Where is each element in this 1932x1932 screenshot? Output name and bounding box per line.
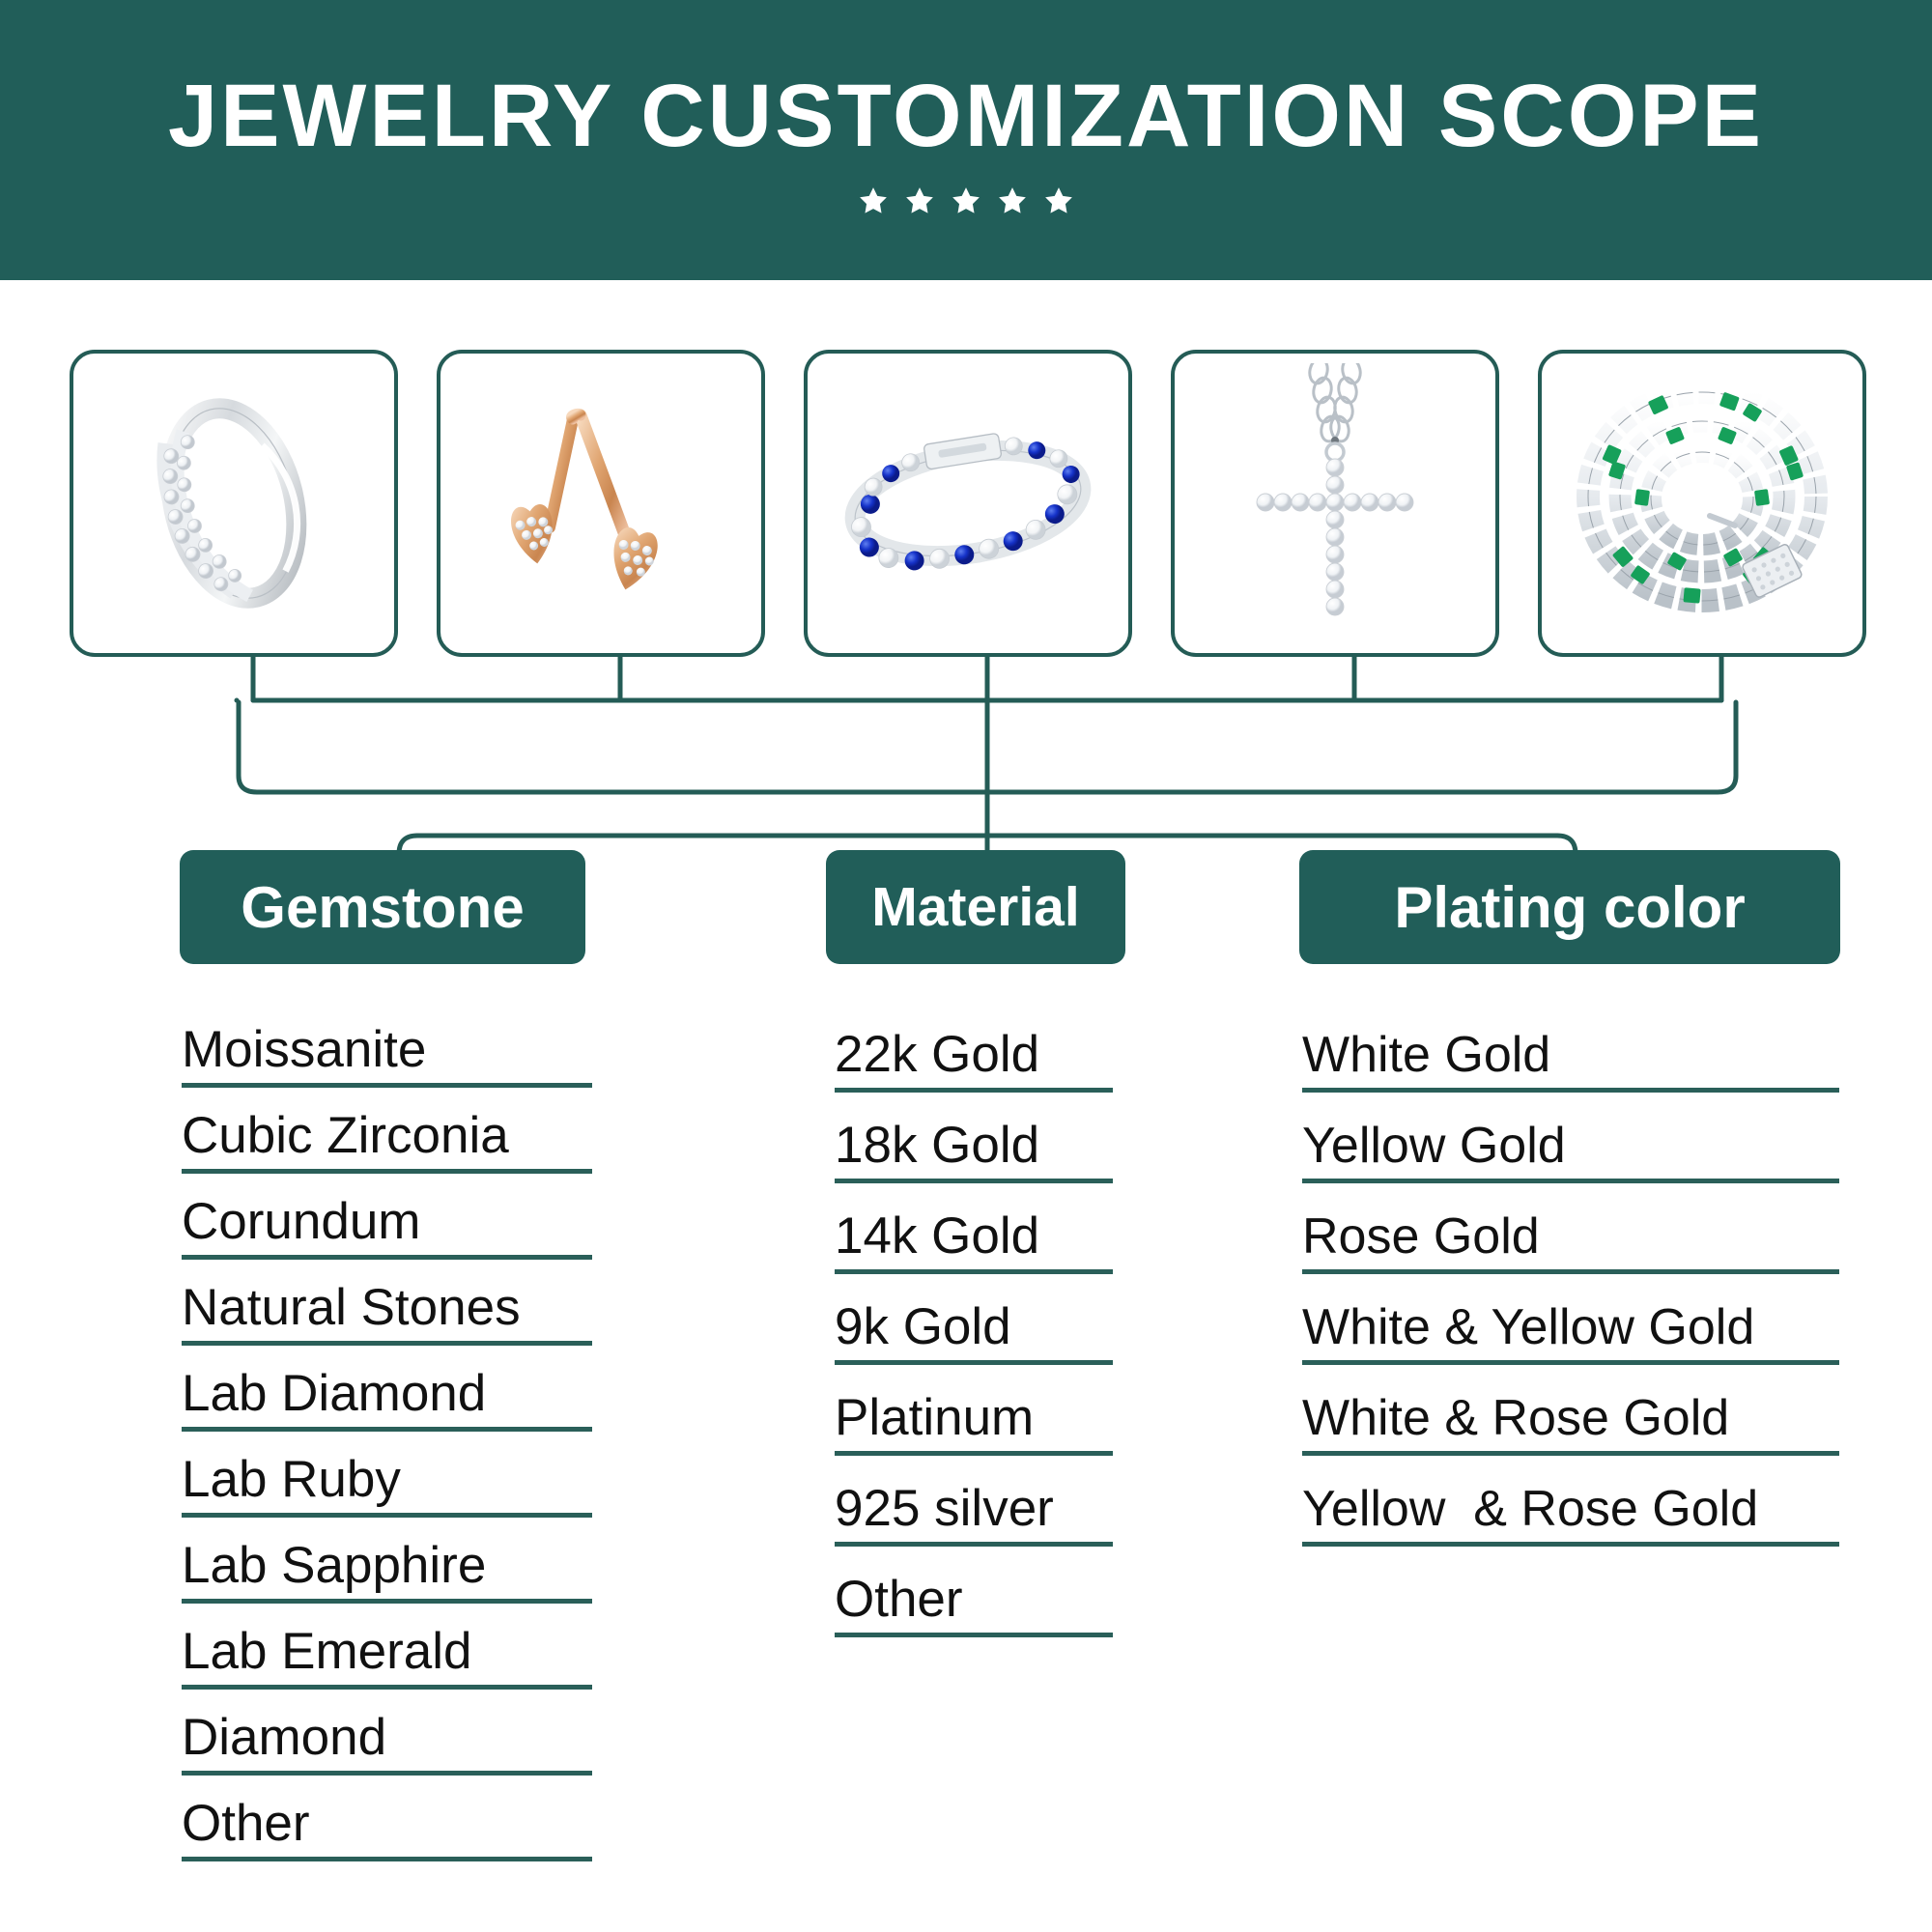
list-item[interactable]: Other <box>182 1776 592 1861</box>
option-label: 18k Gold <box>835 1120 1039 1179</box>
star-icon <box>858 185 889 216</box>
option-label: Natural Stones <box>182 1282 521 1341</box>
list-item[interactable]: Lab Sapphire <box>182 1518 592 1604</box>
category-chip-plating[interactable]: Plating color <box>1299 850 1840 964</box>
list-item[interactable]: Yellow Gold <box>1302 1093 1839 1183</box>
page-title: JEWELRY CUSTOMIZATION SCOPE <box>168 71 1764 160</box>
list-item[interactable]: Rose Gold <box>1302 1183 1839 1274</box>
option-label: Other <box>835 1574 963 1633</box>
list-item[interactable]: Lab Ruby <box>182 1432 592 1518</box>
category-chip-label: Gemstone <box>241 874 524 941</box>
option-label: Lab Diamond <box>182 1368 486 1427</box>
list-item[interactable]: 22k Gold <box>835 1002 1113 1093</box>
option-label: Diamond <box>182 1712 386 1771</box>
option-label: Yellow Gold <box>1302 1121 1566 1179</box>
list-item[interactable]: 18k Gold <box>835 1093 1113 1183</box>
option-list-plating: White Gold Yellow Gold Rose Gold White &… <box>1302 1002 1839 1547</box>
star-icon <box>1043 185 1074 216</box>
list-item[interactable]: White Gold <box>1302 1002 1839 1093</box>
star-icon <box>951 185 981 216</box>
list-item[interactable]: 14k Gold <box>835 1183 1113 1274</box>
option-label: Platinum <box>835 1392 1034 1451</box>
option-label: White & Rose Gold <box>1302 1393 1729 1451</box>
header-banner: JEWELRY CUSTOMIZATION SCOPE <box>0 0 1932 280</box>
list-item[interactable]: Cubic Zirconia <box>182 1088 592 1174</box>
option-label: Other <box>182 1798 310 1857</box>
option-label: Yellow & Rose Gold <box>1302 1484 1758 1542</box>
ring-image <box>113 383 355 624</box>
option-list-gemstone: Moissanite Cubic Zirconia Corundum Natur… <box>182 1002 592 1861</box>
list-item[interactable]: Natural Stones <box>182 1260 592 1346</box>
product-card-row <box>70 350 1866 657</box>
option-label: 22k Gold <box>835 1029 1039 1088</box>
product-card-cuban-chain[interactable] <box>1538 350 1866 657</box>
option-label: Cubic Zirconia <box>182 1110 509 1169</box>
product-card-ring[interactable] <box>70 350 398 657</box>
option-label: 14k Gold <box>835 1210 1039 1269</box>
product-card-necklace[interactable] <box>1171 350 1499 657</box>
option-label: 925 silver <box>835 1483 1054 1542</box>
list-item[interactable]: Platinum <box>835 1365 1113 1456</box>
bracelet-image <box>833 383 1103 624</box>
option-label: Corundum <box>182 1196 420 1255</box>
list-item[interactable]: Lab Diamond <box>182 1346 592 1432</box>
list-item[interactable]: Other <box>835 1547 1113 1637</box>
list-item[interactable]: Yellow & Rose Gold <box>1302 1456 1839 1547</box>
list-item[interactable]: Corundum <box>182 1174 592 1260</box>
option-label: White Gold <box>1302 1030 1550 1088</box>
list-item[interactable]: White & Yellow Gold <box>1302 1274 1839 1365</box>
option-label: Lab Ruby <box>182 1454 401 1513</box>
star-icon <box>997 185 1028 216</box>
option-list-material: 22k Gold 18k Gold 14k Gold 9k Gold Plati… <box>835 1002 1113 1637</box>
category-chip-gemstone[interactable]: Gemstone <box>180 850 585 964</box>
list-item[interactable]: 925 silver <box>835 1456 1113 1547</box>
list-item[interactable]: 9k Gold <box>835 1274 1113 1365</box>
option-label: White & Yellow Gold <box>1302 1302 1754 1360</box>
product-card-earrings[interactable] <box>437 350 765 657</box>
necklace-image <box>1214 363 1456 643</box>
product-card-bracelet[interactable] <box>804 350 1132 657</box>
option-label: Rose Gold <box>1302 1211 1540 1269</box>
option-label: Lab Sapphire <box>182 1540 486 1599</box>
earrings-image <box>480 383 722 624</box>
list-item[interactable]: White & Rose Gold <box>1302 1365 1839 1456</box>
star-icon <box>904 185 935 216</box>
connector-tree <box>0 633 1932 874</box>
list-item[interactable]: Diamond <box>182 1690 592 1776</box>
option-label: Lab Emerald <box>182 1626 472 1685</box>
category-chip-label: Plating color <box>1394 874 1745 941</box>
list-item[interactable]: Moissanite <box>182 1002 592 1088</box>
list-item[interactable]: Lab Emerald <box>182 1604 592 1690</box>
option-label: Moissanite <box>182 1024 426 1083</box>
option-label: 9k Gold <box>835 1301 1011 1360</box>
category-chip-label: Material <box>871 875 1079 939</box>
category-chip-material[interactable]: Material <box>826 850 1125 964</box>
cuban-chain-image <box>1565 373 1840 634</box>
star-rating-row <box>858 185 1074 216</box>
